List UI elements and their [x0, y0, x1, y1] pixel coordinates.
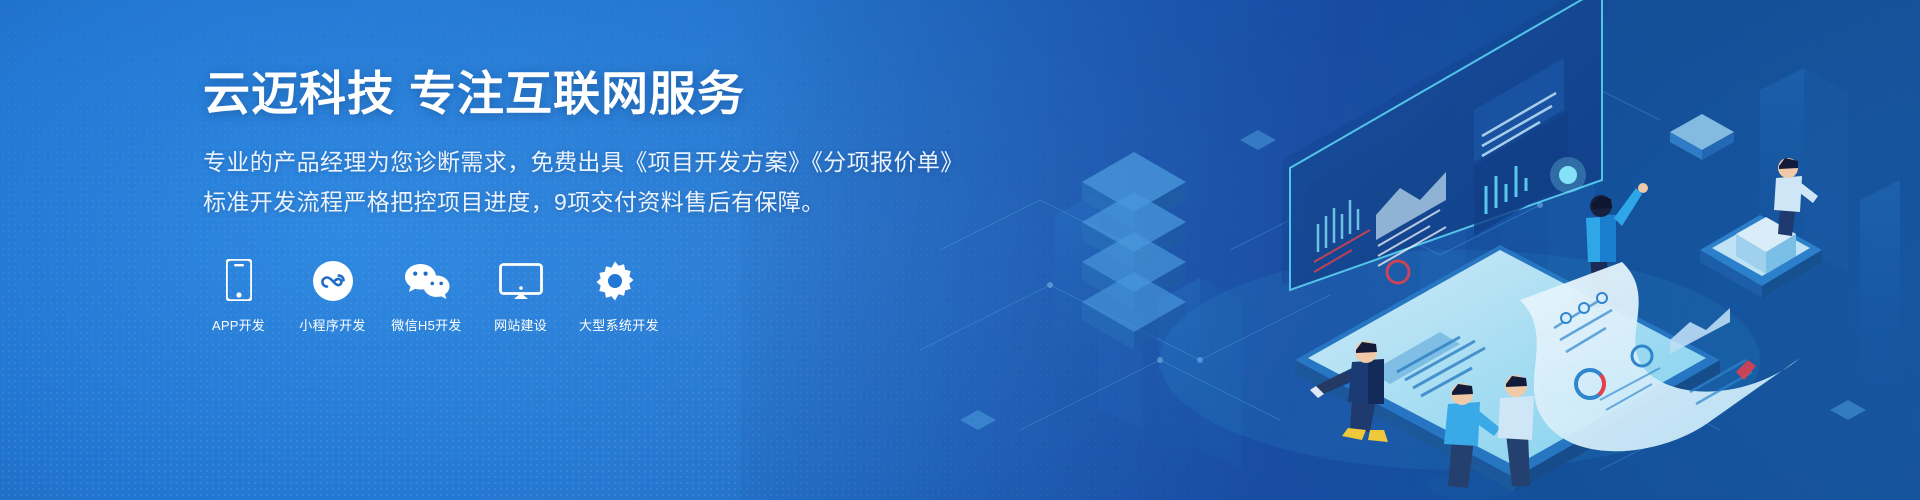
service-item-app[interactable]: APP开发	[203, 259, 274, 334]
page-title: 云迈科技 专注互联网服务	[203, 66, 903, 121]
service-label: 网站建设	[485, 315, 556, 334]
service-list: APP开发 小程序开发	[203, 259, 903, 334]
subtitle-line-1: 专业的产品经理为您诊断需求，免费出具《项目开发方案》《分项报价单》	[203, 143, 903, 183]
hero-banner: 云迈科技 专注互联网服务 专业的产品经理为您诊断需求，免费出具《项目开发方案》《…	[0, 0, 1920, 500]
monitor-icon	[485, 259, 556, 301]
service-label: 大型系统开发	[579, 315, 650, 334]
service-item-large-system[interactable]: 大型系统开发	[579, 259, 650, 334]
wechat-icon	[391, 259, 462, 301]
service-label: 微信H5开发	[391, 315, 462, 334]
service-item-wechat-h5[interactable]: 微信H5开发	[391, 259, 462, 334]
service-label: APP开发	[203, 315, 274, 334]
hero-illustration	[900, 0, 1920, 500]
service-item-mini-program[interactable]: 小程序开发	[297, 259, 368, 334]
banner-subtitle: 专业的产品经理为您诊断需求，免费出具《项目开发方案》《分项报价单》 标准开发流程…	[203, 143, 903, 222]
floating-card	[1670, 114, 1734, 160]
mobile-phone-icon	[203, 259, 274, 301]
mini-program-icon	[297, 259, 368, 301]
service-label: 小程序开发	[297, 315, 368, 334]
subtitle-line-2: 标准开发流程严格把控项目进度，9项交付资料售后有保障。	[203, 183, 903, 223]
service-item-website[interactable]: 网站建设	[485, 259, 556, 334]
banner-content: 云迈科技 专注互联网服务 专业的产品经理为您诊断需求，免费出具《项目开发方案》《…	[203, 66, 903, 334]
gear-icon	[579, 259, 650, 301]
